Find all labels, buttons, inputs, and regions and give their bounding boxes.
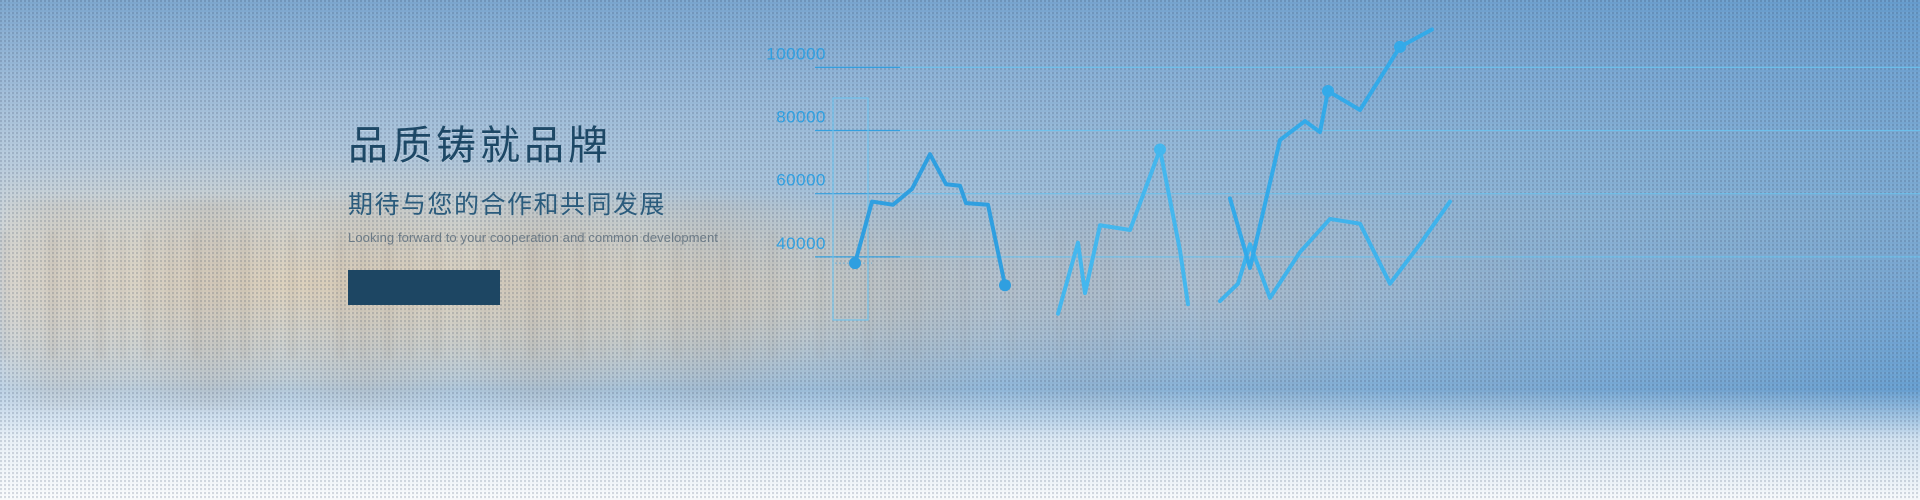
chart-series-layer [849,29,1450,313]
banner-subtitle-english: Looking forward to your cooperation and … [348,231,768,245]
svg-text:100000: 100000 [766,44,826,63]
cta-button[interactable] [348,270,500,305]
chart-axis-box [833,98,868,320]
banner-copy: 品质铸就品牌 期待与您的合作和共同发展 Looking forward to y… [348,126,768,305]
svg-text:60000: 60000 [776,171,826,190]
hero-banner: 品质铸就品牌 期待与您的合作和共同发展 Looking forward to y… [0,0,1920,500]
chart-axis-labels: 100000800006000040000 [766,44,826,252]
page-title: 品质铸就品牌 [348,126,768,166]
line-chart: 100000800006000040000 [760,0,1920,500]
banner-subtitle: 期待与您的合作和共同发展 [348,193,768,218]
svg-text:80000: 80000 [776,108,826,127]
svg-text:40000: 40000 [776,234,826,253]
